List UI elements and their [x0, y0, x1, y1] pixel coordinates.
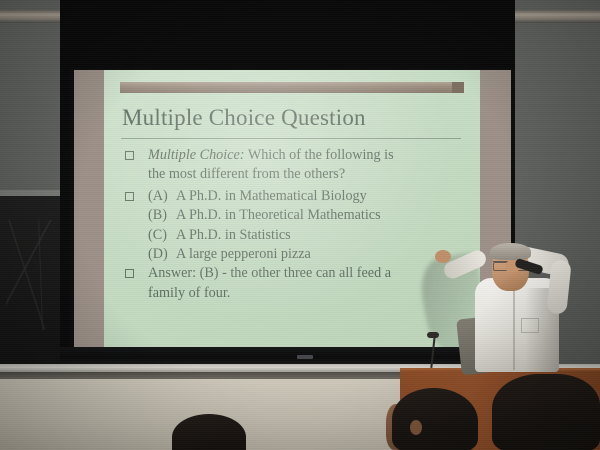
slide-bullet-question: Multiple Choice: Which of the following …	[122, 146, 466, 185]
choice-d-label: (D)	[148, 245, 176, 264]
speaker-forearm	[546, 259, 572, 315]
square-bullet-icon	[125, 269, 134, 278]
speaker	[455, 244, 590, 372]
audience-head-center-ear	[410, 420, 422, 435]
choice-a-text: A Ph.D. in Mathematical Biology	[176, 188, 367, 204]
speaker-far-hand	[435, 250, 451, 263]
slide-decorative-bar-cap	[452, 82, 464, 93]
slide-title: Multiple Choice Question	[122, 104, 462, 132]
slide-decorative-bar	[120, 82, 464, 93]
speaker-shirt-placket	[513, 290, 515, 370]
square-bullet-icon	[125, 192, 134, 201]
audience-head-right	[492, 374, 600, 450]
slide-body: Multiple Choice: Which of the following …	[122, 146, 466, 305]
speaker-hair	[490, 243, 531, 260]
chalkboard-writing	[6, 220, 52, 330]
wall-trim-right	[520, 10, 600, 23]
projected-slide: Multiple Choice Question Multiple Choice…	[104, 70, 480, 347]
answer-line-1: Answer: (B) - the other three can all fe…	[148, 264, 466, 283]
screen-logo	[297, 355, 313, 359]
choice-b: (B)A Ph.D. in Theoretical Mathematics	[148, 206, 466, 225]
audience-head-center	[392, 388, 478, 450]
choice-d-text: A large pepperoni pizza	[176, 246, 311, 262]
choice-b-label: (B)	[148, 206, 176, 225]
question-line-1-text: Which of the following is	[245, 147, 394, 163]
question-line-2: the most different from the others?	[148, 165, 466, 184]
speaker-shirt-pocket	[521, 318, 539, 333]
choice-d: (D)A large pepperoni pizza	[148, 245, 466, 264]
choice-a-label: (A)	[148, 187, 176, 206]
chalkboard	[0, 196, 66, 364]
lecture-hall-photo: Multiple Choice Question Multiple Choice…	[0, 0, 600, 450]
question-lead: Multiple Choice:	[148, 147, 245, 163]
square-bullet-icon	[125, 151, 134, 160]
choice-c: (C)A Ph.D. in Statistics	[148, 226, 466, 245]
choice-b-text: A Ph.D. in Theoretical Mathematics	[176, 207, 381, 223]
answer-line-2: family of four.	[148, 284, 466, 303]
choice-c-label: (C)	[148, 226, 176, 245]
slide-title-rule	[121, 138, 461, 139]
choice-a: (A)A Ph.D. in Mathematical Biology	[148, 187, 466, 206]
slide-bullet-answer: Answer: (B) - the other three can all fe…	[122, 264, 466, 303]
slide-bullet-choices: (A)A Ph.D. in Mathematical Biology (B)A …	[122, 187, 466, 265]
question-line-1: Multiple Choice: Which of the following …	[148, 146, 466, 165]
choice-c-text: A Ph.D. in Statistics	[176, 227, 291, 243]
